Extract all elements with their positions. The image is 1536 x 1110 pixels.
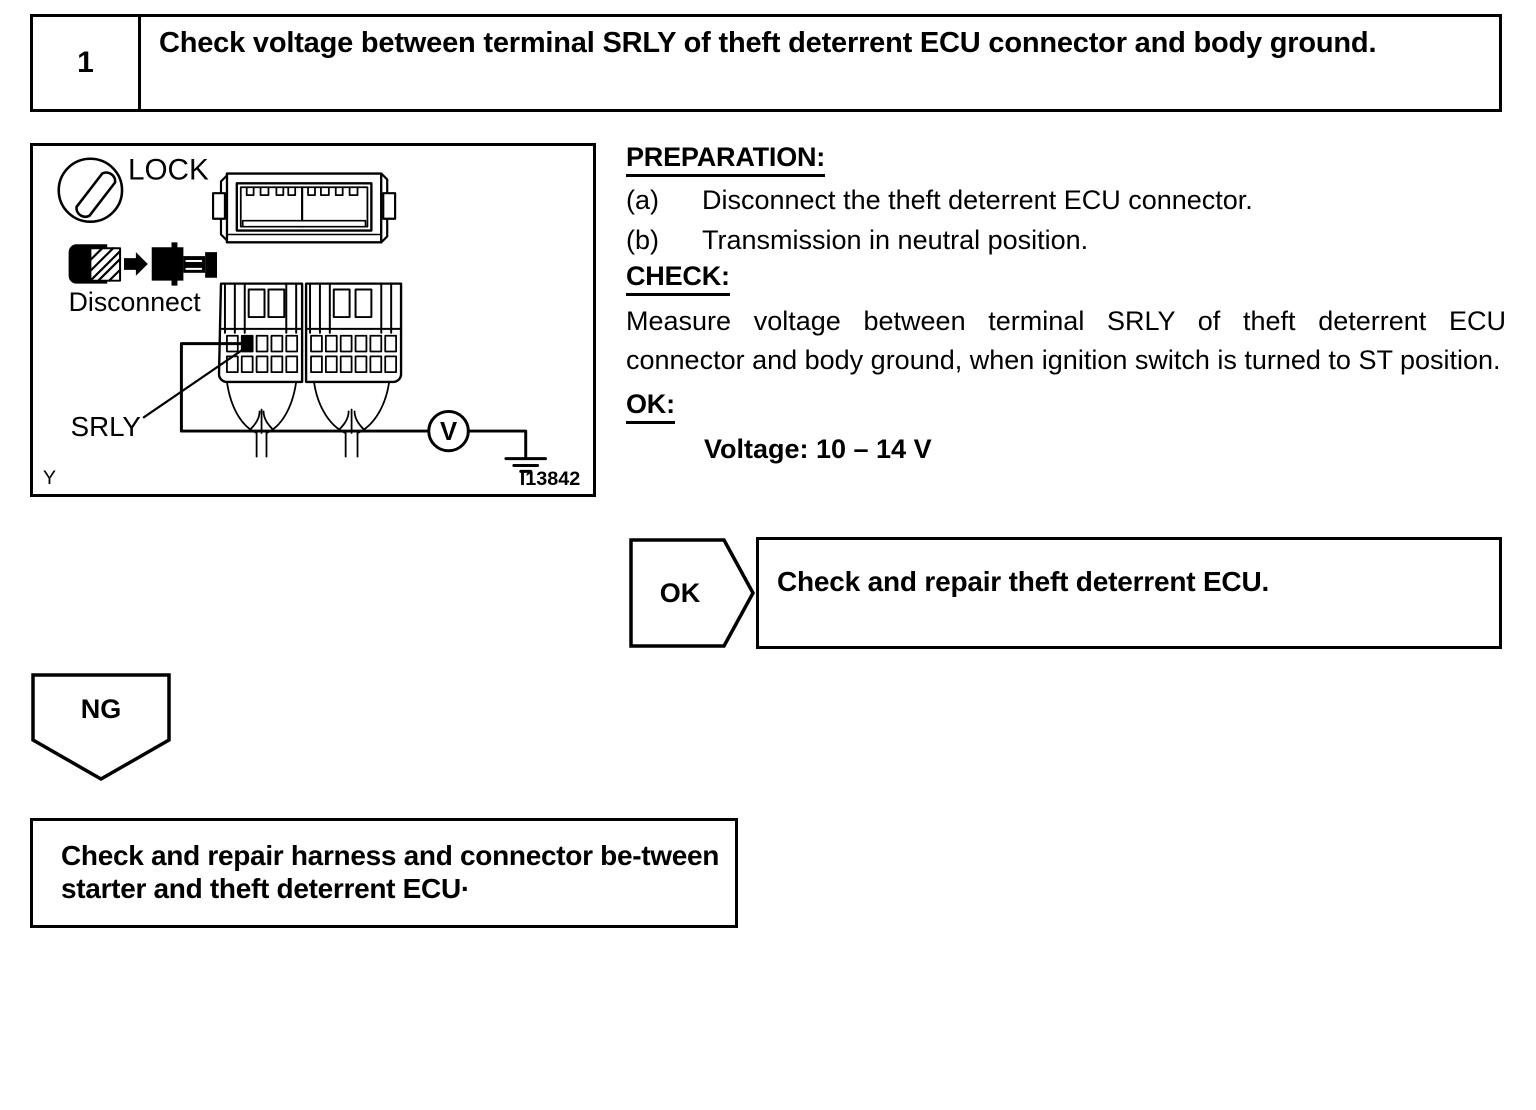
disconnect-icon [69,242,217,285]
spacer [626,381,1506,389]
step-title: Check voltage between terminal SRLY of t… [159,27,1376,59]
check-heading: CHECK: [626,261,730,296]
ng-result-box: Check and repair harness and connector b… [30,818,738,928]
ok-voltage-value: Voltage: 10 – 14 V [626,434,1506,465]
figure-wire-color-code: Y [43,467,56,489]
step-title-cell: Check voltage between terminal SRLY of t… [141,17,1499,109]
voltmeter-label: V [440,418,457,446]
figure-disconnect-label: Disconnect [69,287,202,317]
ok-branch: OK Check and repair theft deterrent ECU. [628,537,1502,649]
figure-panel: LOCK Disconnect SRLY Y I13842 V [30,143,596,497]
preparation-item-text: Transmission in neutral position. [702,221,1506,260]
figure-lock-label: LOCK [128,154,209,187]
ecu-connector-face [213,174,395,243]
preparation-item-text: Disconnect the theft deterrent ECU conne… [702,181,1506,220]
step-number: 1 [77,46,94,80]
check-text: Measure voltage between terminal SRLY of… [626,302,1506,381]
preparation-item-key: (a) [626,181,702,220]
procedure-info-column: PREPARATION: (a) Disconnect the theft de… [626,142,1506,465]
figure-srly-label: SRLY [71,411,141,442]
ok-heading: OK: [626,389,675,424]
ok-result-box: Check and repair theft deterrent ECU. [756,537,1502,649]
preparation-item: (b) Transmission in neutral position. [626,221,1506,260]
wiring-diagram-illustration: LOCK Disconnect SRLY Y I13842 V [33,146,593,494]
step-header-table: 1 Check voltage between terminal SRLY of… [30,14,1502,112]
figure-code: I13842 [520,468,581,490]
lock-icon [59,159,122,222]
ok-spec-section: OK: Voltage: 10 – 14 V [626,389,1506,465]
check-section: CHECK: Measure voltage between terminal … [626,261,1506,381]
preparation-item: (a) Disconnect the theft deterrent ECU c… [626,181,1506,220]
ok-branch-label: OK [628,537,732,649]
preparation-heading: PREPARATION: [626,142,825,177]
ng-branch-label: NG [30,672,172,746]
preparation-item-key: (b) [626,221,702,260]
step-number-cell: 1 [33,17,141,109]
preparation-section: PREPARATION: (a) Disconnect the theft de… [626,142,1506,260]
